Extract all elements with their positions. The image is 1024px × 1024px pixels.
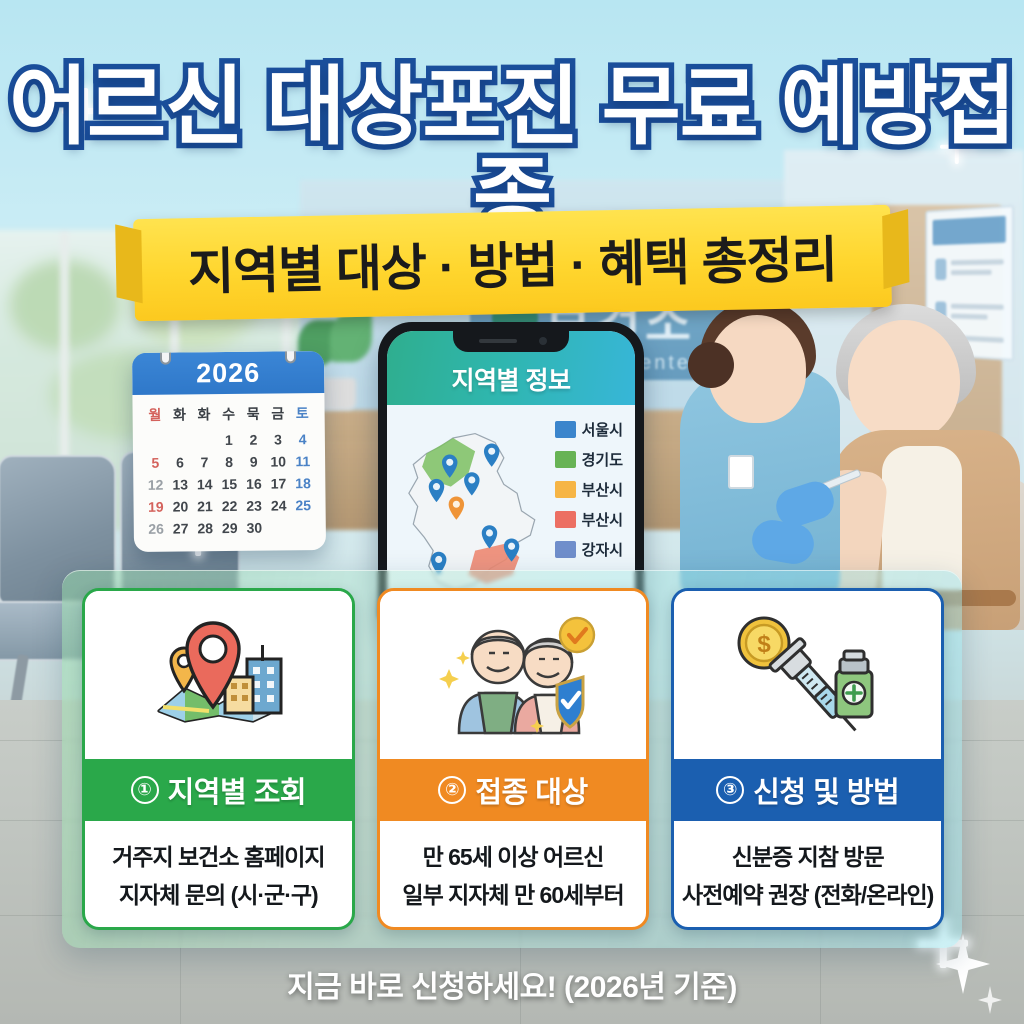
card-title: 접종 대상 [475, 769, 587, 811]
calendar-week-row: 19202122232425 [143, 494, 315, 518]
calendar-empty-cell: . [143, 430, 168, 452]
calendar-day[interactable]: 15 [217, 473, 242, 495]
calendar-widget: 2026 월화화수묵금토 ...123456789101112131415161… [132, 351, 326, 552]
calendar-day[interactable]: 17 [266, 472, 291, 494]
card-number: ② [438, 776, 466, 804]
card-line: 지자체 문의 (시·군·구) [119, 876, 318, 910]
calendar-day[interactable]: 8 [217, 451, 242, 473]
legend-color-swatch [555, 481, 576, 498]
calendar-header: 2026 [132, 351, 324, 395]
calendar-week-row: 12131415161718 [143, 472, 315, 496]
calendar-day[interactable]: 4 [290, 428, 315, 450]
map-legend-item: 부산시 [555, 479, 629, 500]
calendar-week-row: 567891011 [143, 450, 315, 474]
calendar-weekday: 토 [290, 400, 315, 428]
card-header: ① 지역별 조회 [85, 759, 352, 821]
calendar-week-row: 2627282930.. [144, 516, 316, 540]
card-title: 지역별 조회 [168, 769, 306, 811]
legend-label: 부산시 [582, 479, 623, 500]
card-line: 신분증 지참 방문 [732, 838, 884, 872]
calendar-weekday: 묵 [241, 401, 266, 429]
calendar-day[interactable]: 20 [168, 495, 193, 517]
calendar-ring-icon [160, 351, 171, 365]
calendar-day[interactable]: 1 [216, 429, 241, 451]
calendar-day[interactable]: 23 [242, 495, 267, 517]
calendar-day[interactable]: 6 [168, 451, 193, 473]
calendar-grid: 월화화수묵금토 ...12345678910111213141516171819… [132, 393, 326, 552]
calendar-days: ...1234567891011121314151617181920212223… [143, 428, 316, 540]
calendar-day[interactable]: 16 [242, 473, 267, 495]
subtitle-text: 지역별 대상 · 방법 · 혜택 총정리 [187, 232, 837, 300]
calendar-day[interactable]: 29 [217, 517, 242, 539]
calendar-day[interactable]: 24 [266, 494, 291, 516]
legend-color-swatch [555, 421, 576, 438]
calendar-weekday-row: 월화화수묵금토 [142, 400, 314, 430]
calendar-day[interactable]: 5 [143, 452, 168, 474]
calendar-weekday: 화 [167, 401, 192, 429]
map-legend-item: 강자시 [555, 539, 629, 560]
calendar-day[interactable]: 30 [242, 517, 267, 539]
legend-label: 경기도 [582, 449, 623, 470]
calendar-day[interactable]: 7 [192, 451, 217, 473]
legend-color-swatch [555, 451, 576, 468]
calendar-empty-cell: . [291, 516, 316, 538]
map-pin-city-icon [85, 591, 352, 759]
card-line: 사전예약 권장 (전화/온라인) [682, 876, 933, 910]
calendar-empty-cell: . [167, 429, 192, 451]
legend-color-swatch [555, 541, 576, 558]
footer-cta-text: 지금 바로 신청하세요! (2026년 기준) [287, 971, 737, 1004]
legend-label: 부산시 [582, 509, 623, 530]
calendar-day[interactable]: 19 [143, 496, 168, 518]
svg-text:$: $ [757, 631, 771, 658]
card-line: 거주지 보건소 홈페이지 [112, 838, 324, 872]
calendar-empty-cell: . [192, 429, 217, 451]
legend-color-swatch [555, 511, 576, 528]
elderly-couple-shield-icon [380, 591, 647, 759]
calendar-day[interactable]: 12 [143, 474, 168, 496]
card-title: 신청 및 방법 [753, 769, 899, 811]
card-number: ③ [716, 776, 744, 804]
calendar-day[interactable]: 28 [193, 517, 218, 539]
calendar-day[interactable]: 26 [144, 518, 169, 540]
calendar-day[interactable]: 10 [266, 450, 291, 472]
calendar-day[interactable]: 18 [291, 472, 316, 494]
subtitle-ribbon-block: 지역별 대상 · 방법 · 혜택 총정리 [0, 212, 1024, 314]
calendar-ring-icon [285, 351, 296, 363]
calendar-day[interactable]: 3 [266, 428, 291, 450]
card-eligibility[interactable]: ② 접종 대상 만 65세 이상 어르신 일부 지자체 만 60세부터 [377, 588, 650, 930]
calendar-year: 2026 [196, 357, 260, 389]
info-cards-row: ① 지역별 조회 거주지 보건소 홈페이지 지자체 문의 (시·군·구) [82, 588, 944, 930]
card-header: ③ 신청 및 방법 [674, 759, 941, 821]
card-region-lookup[interactable]: ① 지역별 조회 거주지 보건소 홈페이지 지자체 문의 (시·군·구) [82, 588, 355, 930]
calendar-day[interactable]: 22 [217, 495, 242, 517]
legend-label: 서울시 [582, 419, 623, 440]
map-legend-item: 경기도 [555, 449, 629, 470]
card-number: ① [131, 776, 159, 804]
card-application-method[interactable]: $ ③ 신청 및 방법 [671, 588, 944, 930]
card-line: 일부 지자체 만 60세부터 [402, 876, 623, 910]
calendar-day[interactable]: 21 [193, 495, 218, 517]
subtitle-ribbon: 지역별 대상 · 방법 · 혜택 총정리 [133, 205, 891, 322]
calendar-day[interactable]: 25 [291, 494, 316, 516]
calendar-weekday: 화 [192, 401, 217, 429]
calendar-weekday: 월 [142, 402, 167, 430]
calendar-day[interactable]: 27 [168, 517, 193, 539]
calendar-weekday: 금 [265, 400, 290, 428]
calendar-empty-cell: . [267, 516, 292, 538]
map-legend-item: 서울시 [555, 419, 629, 440]
card-body: 신분증 지참 방문 사전예약 권장 (전화/온라인) [674, 821, 941, 927]
calendar-day[interactable]: 13 [168, 473, 193, 495]
legend-label: 강자시 [582, 539, 623, 560]
map-legend-item: 부산시 [555, 509, 629, 530]
calendar-weekday: 수 [216, 401, 241, 429]
phone-notch [453, 331, 569, 352]
calendar-day[interactable]: 11 [290, 450, 315, 472]
card-line: 만 65세 이상 어르신 [423, 838, 604, 872]
footer-block: 지금 바로 신청하세요! (2026년 기준) [0, 962, 1024, 1006]
card-body: 만 65세 이상 어르신 일부 지자체 만 60세부터 [380, 821, 647, 927]
syringe-vial-coin-icon: $ [674, 591, 941, 759]
card-body: 거주지 보건소 홈페이지 지자체 문의 (시·군·구) [85, 821, 352, 927]
calendar-day[interactable]: 14 [192, 473, 217, 495]
phone-app-title: 지역별 정보 [452, 361, 571, 397]
calendar-week-row: ...1234 [143, 428, 315, 452]
card-header: ② 접종 대상 [380, 759, 647, 821]
calendar-day[interactable]: 2 [241, 429, 266, 451]
calendar-day[interactable]: 9 [241, 451, 266, 473]
